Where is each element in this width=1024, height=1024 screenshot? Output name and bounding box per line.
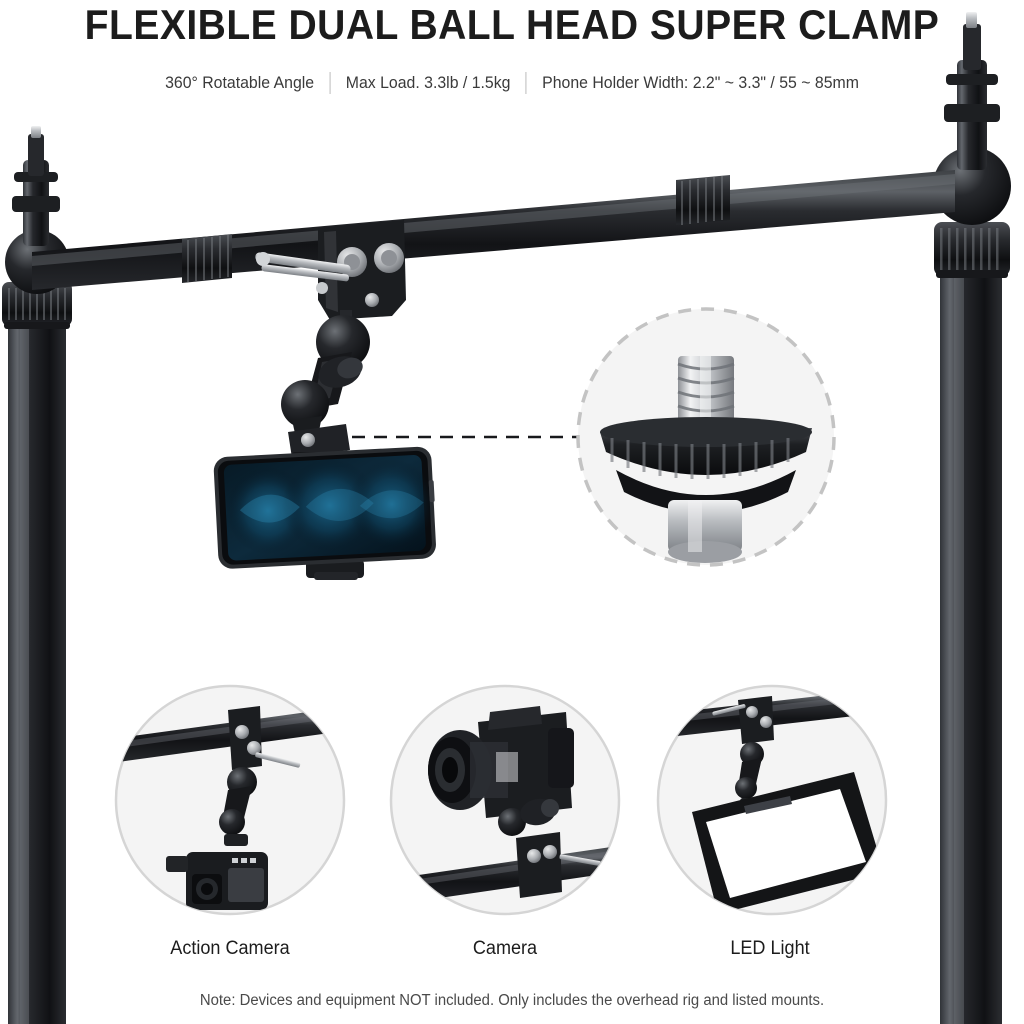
crossbar-collar-left (182, 234, 232, 283)
use-case-circle-led-light (658, 686, 890, 914)
caption-action-camera: Action Camera (135, 938, 325, 960)
use-case-circle-action-camera (116, 686, 352, 914)
caption-led-light: LED Light (675, 938, 865, 960)
product-illustration (0, 0, 1024, 1024)
right-post (933, 12, 1011, 1024)
dual-ball-head-arm (281, 310, 370, 438)
caption-camera: Camera (410, 938, 600, 960)
detail-callout-circle (578, 309, 834, 565)
footer-note: Note: Devices and equipment NOT included… (20, 992, 1003, 1010)
product-infographic: FLEXIBLE DUAL BALL HEAD SUPER CLAMP 360°… (0, 0, 1024, 1024)
crossbar-collar-right (676, 175, 730, 225)
horizontal-crossbar (32, 170, 955, 290)
smartphone (213, 446, 439, 569)
use-case-circle-camera (391, 686, 619, 914)
